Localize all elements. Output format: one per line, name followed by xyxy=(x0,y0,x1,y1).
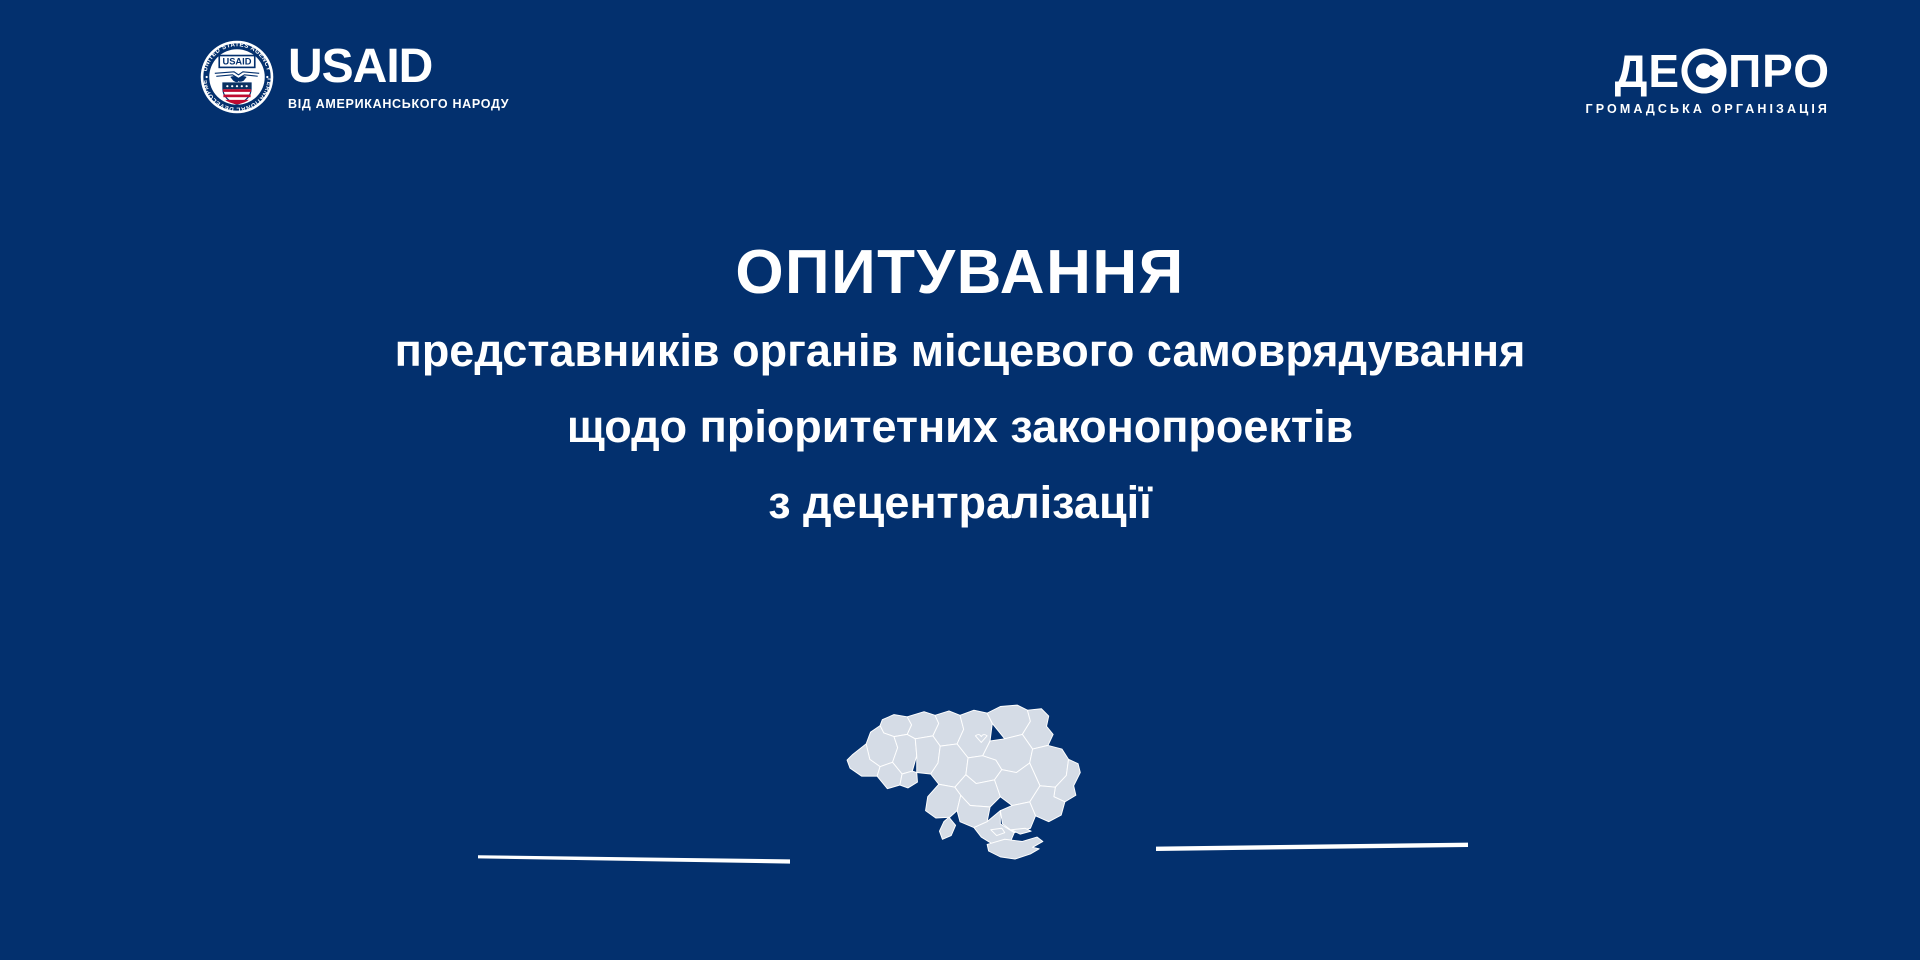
decorative-rule-right xyxy=(1156,840,1468,854)
decorative-rule-left xyxy=(478,852,790,866)
despro-circle-c-icon xyxy=(1681,48,1727,94)
subtitle-line-2: щодо пріоритетних законопроектів xyxy=(60,395,1860,459)
subtitle-line-1: представників органів місцевого самовряд… xyxy=(60,319,1860,383)
despro-logo: ДЕ ПРО ГРОМАДСЬКА ОРГАНІЗАЦІЯ xyxy=(1586,48,1830,116)
usaid-wordmark: USAID xyxy=(288,43,432,91)
usaid-seal-icon: UNITED STATES AGENCY INTERNATIONAL DEVEL… xyxy=(200,40,274,114)
headline-block: ОПИТУВАННЯ представників органів місцево… xyxy=(0,238,1920,535)
ukraine-map xyxy=(839,700,1081,870)
page-title: ОПИТУВАННЯ xyxy=(60,238,1860,307)
bottom-decoration-band xyxy=(0,680,1920,960)
svg-text:USAID: USAID xyxy=(223,57,252,67)
subtitle-line-3: з децентралізації xyxy=(60,471,1860,535)
usaid-tagline: ВІД АМЕРИКАНСЬКОГО НАРОДУ xyxy=(288,98,509,111)
despro-wordmark-part1: ДЕ xyxy=(1615,48,1680,94)
usaid-wordmark-group: USAID ВІД АМЕРИКАНСЬКОГО НАРОДУ xyxy=(288,43,509,111)
slide-canvas: UNITED STATES AGENCY INTERNATIONAL DEVEL… xyxy=(0,0,1920,960)
despro-wordmark-group: ДЕ ПРО xyxy=(1615,48,1830,94)
despro-wordmark-part2: ПРО xyxy=(1728,48,1830,94)
despro-tagline: ГРОМАДСЬКА ОРГАНІЗАЦІЯ xyxy=(1586,103,1830,116)
usaid-logo: UNITED STATES AGENCY INTERNATIONAL DEVEL… xyxy=(200,40,509,114)
